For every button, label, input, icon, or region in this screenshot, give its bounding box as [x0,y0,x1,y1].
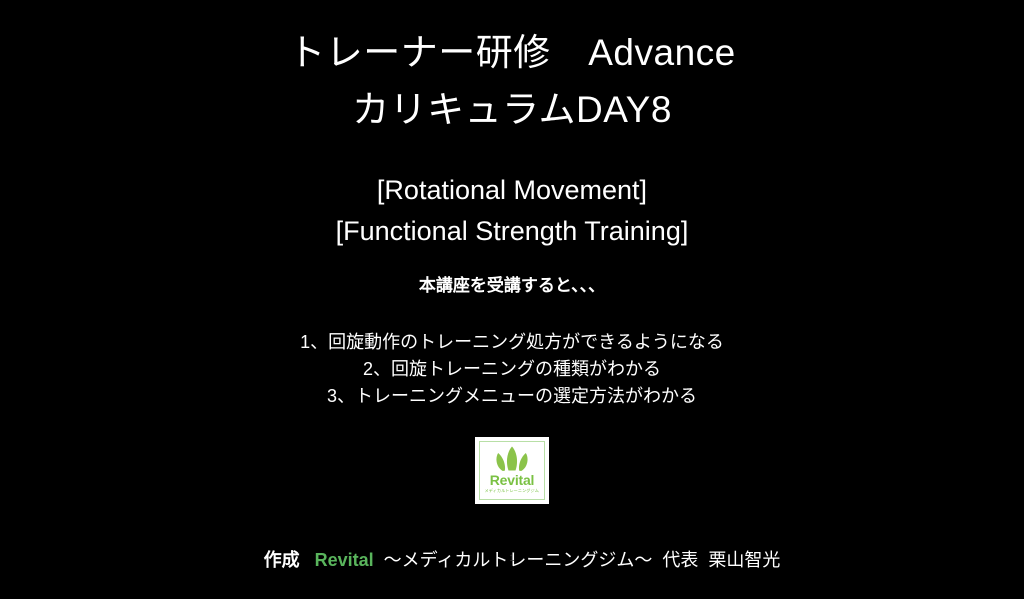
page-title: トレーナー研修 Advance カリキュラムDAY8 [0,24,1024,138]
benefits-list: 1、回旋動作のトレーニング処方ができるようになる 2、回旋トレーニングの種類がわ… [0,329,1024,410]
list-item: 3、トレーニングメニューの選定方法がわかる [0,383,1024,410]
revital-logo: Revital メディカルトレーニングジム [475,437,549,504]
title-line-2: カリキュラムDAY8 [0,81,1024,138]
logo-container: Revital メディカルトレーニングジム [0,437,1024,504]
leadin-text: 本講座を受講すると、、、 [0,274,1024,298]
slide-canvas: トレーナー研修 Advance カリキュラムDAY8 [Rotational M… [0,0,1024,576]
subtitle-line-2: [Functional Strength Training] [0,211,1024,252]
logo-wordmark: Revital [490,473,535,488]
title-line-1: トレーナー研修 Advance [0,24,1024,81]
logo-tagline: メディカルトレーニングジム [485,488,539,494]
page-number: 1 [0,552,1024,564]
subtitle-line-1: [Rotational Movement] [0,170,1024,211]
subtitle-block: [Rotational Movement] [Functional Streng… [0,170,1024,252]
list-item: 1、回旋動作のトレーニング処方ができるようになる [0,329,1024,356]
list-item: 2、回旋トレーニングの種類がわかる [0,356,1024,383]
leaf-icon [495,446,529,472]
